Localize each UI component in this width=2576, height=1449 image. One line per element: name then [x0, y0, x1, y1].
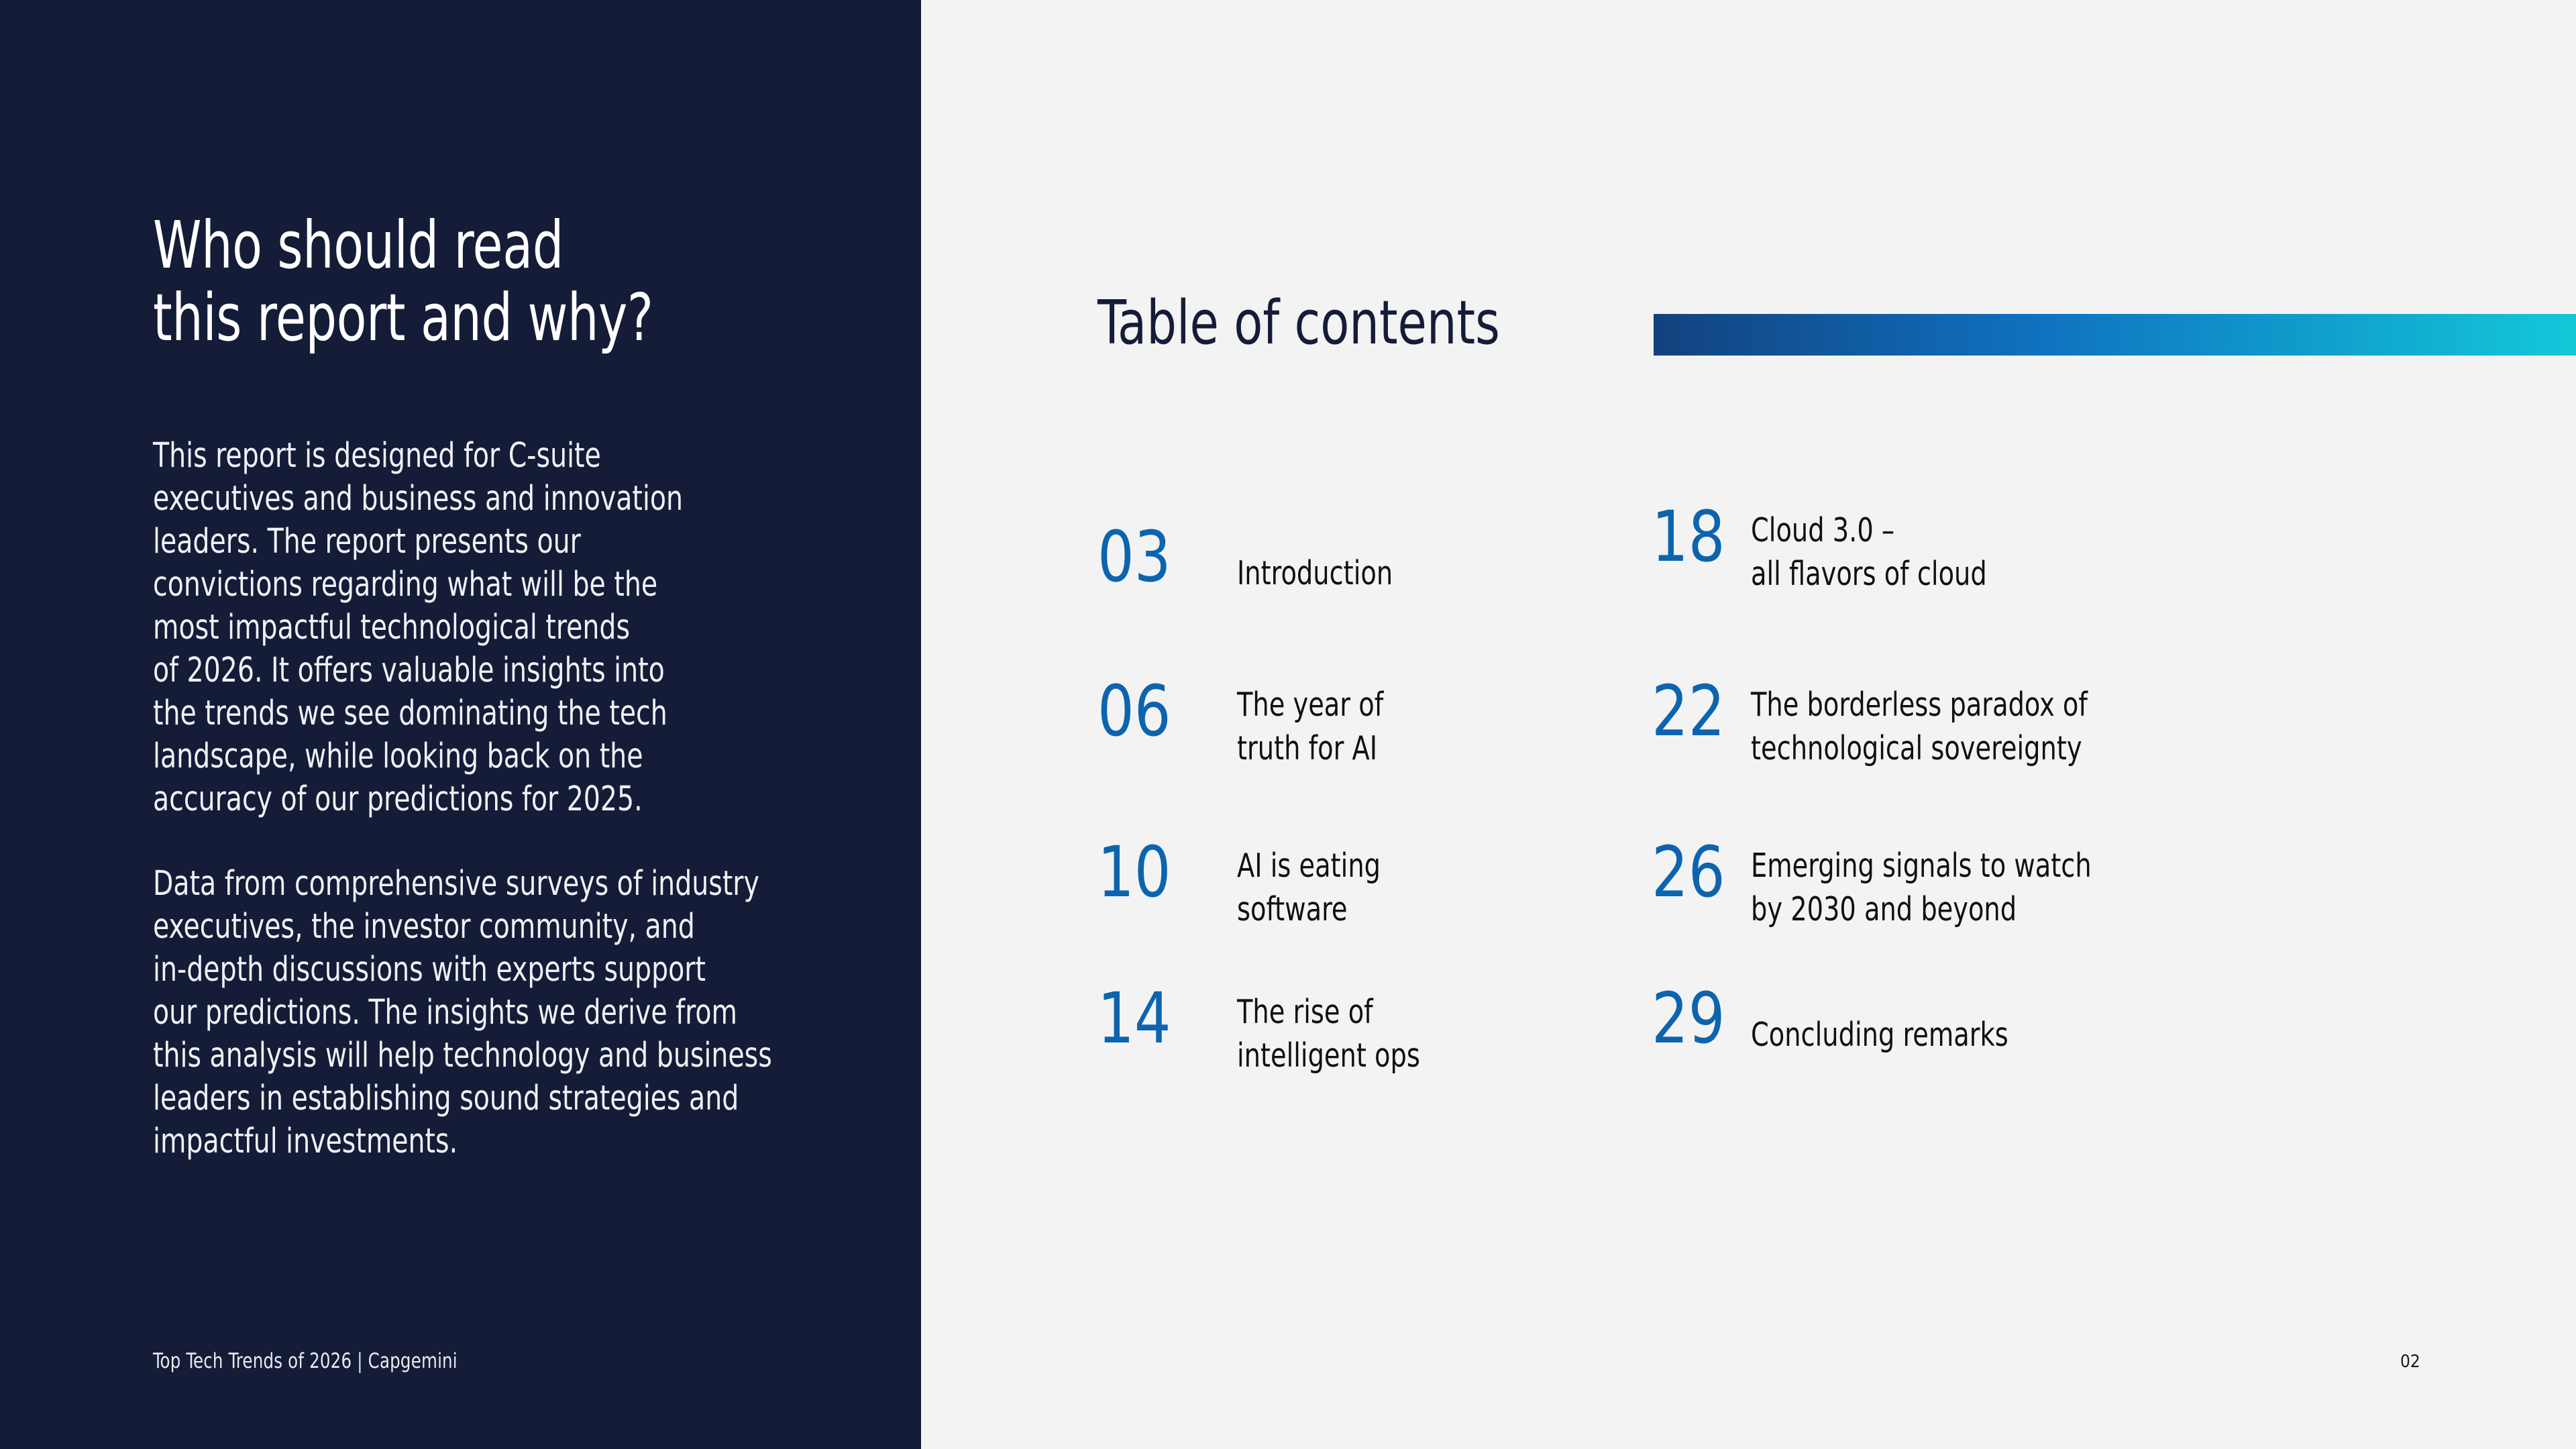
toc-entry-label: The year of truth for AI [1237, 683, 1383, 770]
toc-entry-the-borderless-paradox[interactable]: 22 The borderless paradox of technologic… [1652, 679, 2138, 770]
table-of-contents: 03 Introduction 06 The year of truth for… [0, 0, 2576, 1449]
toc-entry-label: The borderless paradox of technological … [1751, 683, 2088, 770]
toc-page-number: 29 [1652, 986, 1743, 1051]
toc-page-number: 06 [1097, 679, 1226, 743]
page-number: 02 [2400, 1352, 2420, 1372]
toc-page-number: 22 [1652, 679, 1743, 743]
toc-entry-the-year-of-truth-for-ai[interactable]: 06 The year of truth for AI [1097, 679, 1405, 770]
toc-entry-introduction[interactable]: 03 Introduction [1097, 525, 1416, 595]
toc-entry-ai-is-eating-software[interactable]: 10 AI is eating software [1097, 840, 1402, 931]
toc-entry-label: Cloud 3.0 – all flavors of cloud [1751, 508, 1987, 596]
toc-entry-label: Concluding remarks [1751, 1013, 2008, 1057]
toc-page-number: 14 [1097, 986, 1226, 1051]
toc-entry-cloud-3-0[interactable]: 18 Cloud 3.0 – all flavors of cloud [1652, 504, 2022, 596]
slide-page: Who should read this report and why? Thi… [0, 0, 2576, 1449]
toc-entry-label: Introduction [1237, 551, 1393, 595]
toc-page-number: 03 [1097, 525, 1226, 589]
toc-entry-emerging-signals[interactable]: 26 Emerging signals to watch by 2030 and… [1652, 840, 2143, 931]
toc-entry-label: Emerging signals to watch by 2030 and be… [1751, 844, 2092, 931]
toc-entry-concluding-remarks[interactable]: 29 Concluding remarks [1652, 986, 2047, 1057]
toc-page-number: 18 [1652, 504, 1743, 569]
toc-entry-label: The rise of intelligent ops [1237, 990, 1420, 1077]
toc-page-number: 26 [1652, 840, 1743, 904]
toc-entry-the-rise-of-intelligent-ops[interactable]: 14 The rise of intelligent ops [1097, 986, 1448, 1077]
toc-entry-label: AI is eating software [1237, 844, 1381, 931]
toc-page-number: 10 [1097, 840, 1226, 904]
